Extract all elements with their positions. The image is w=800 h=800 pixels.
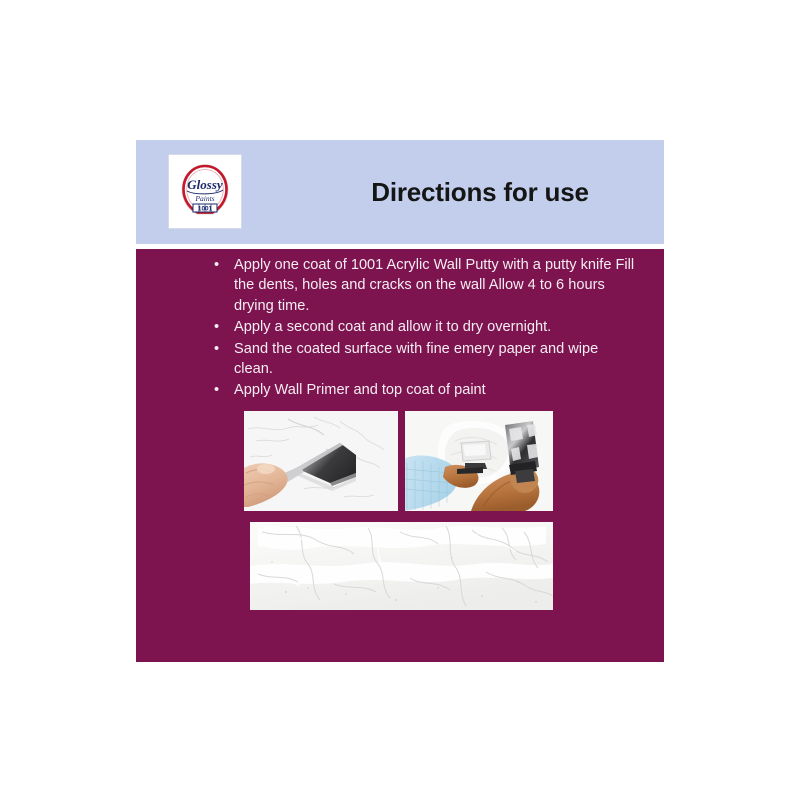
bullet-icon: • [214,317,219,337]
photo-applying-putty-with-trowel [405,411,553,511]
glossy-paints-logo-icon: Glossy Paints 1001 [174,160,236,223]
logo-product-code: 1001 [198,206,213,213]
instructions-panel: • Apply one coat of 1001 Acrylic Wall Pu… [136,249,664,662]
bullet-icon: • [214,380,219,400]
list-item: • Sand the coated surface with fine emer… [212,339,636,380]
directions-list: • Apply one coat of 1001 Acrylic Wall Pu… [212,255,636,402]
photo-finished-putty-texture [250,522,553,610]
trowel-application-image [405,411,553,511]
list-item: • Apply one coat of 1001 Acrylic Wall Pu… [212,255,636,316]
bullet-icon: • [214,255,219,275]
list-item-text: Sand the coated surface with fine emery … [234,341,598,377]
logo-brand-text: Glossy [187,177,223,192]
list-item: • Apply Wall Primer and top coat of pain… [212,380,636,400]
logo-sub-text: Paints [194,194,214,203]
putty-texture-image [250,522,553,610]
list-item-text: Apply Wall Primer and top coat of paint [234,382,486,398]
list-item: • Apply a second coat and allow it to dr… [212,317,636,337]
putty-knife-image [244,411,398,511]
list-item-text: Apply one coat of 1001 Acrylic Wall Putt… [234,257,634,314]
photo-putty-knife-on-wall [244,411,398,511]
poster-canvas: Glossy Paints 1001 Directions for use • … [0,0,800,800]
brand-logo: Glossy Paints 1001 [169,155,241,228]
bullet-icon: • [214,339,219,359]
header-band: Glossy Paints 1001 Directions for use [136,140,664,244]
page-title: Directions for use [296,140,664,244]
list-item-text: Apply a second coat and allow it to dry … [234,319,551,335]
